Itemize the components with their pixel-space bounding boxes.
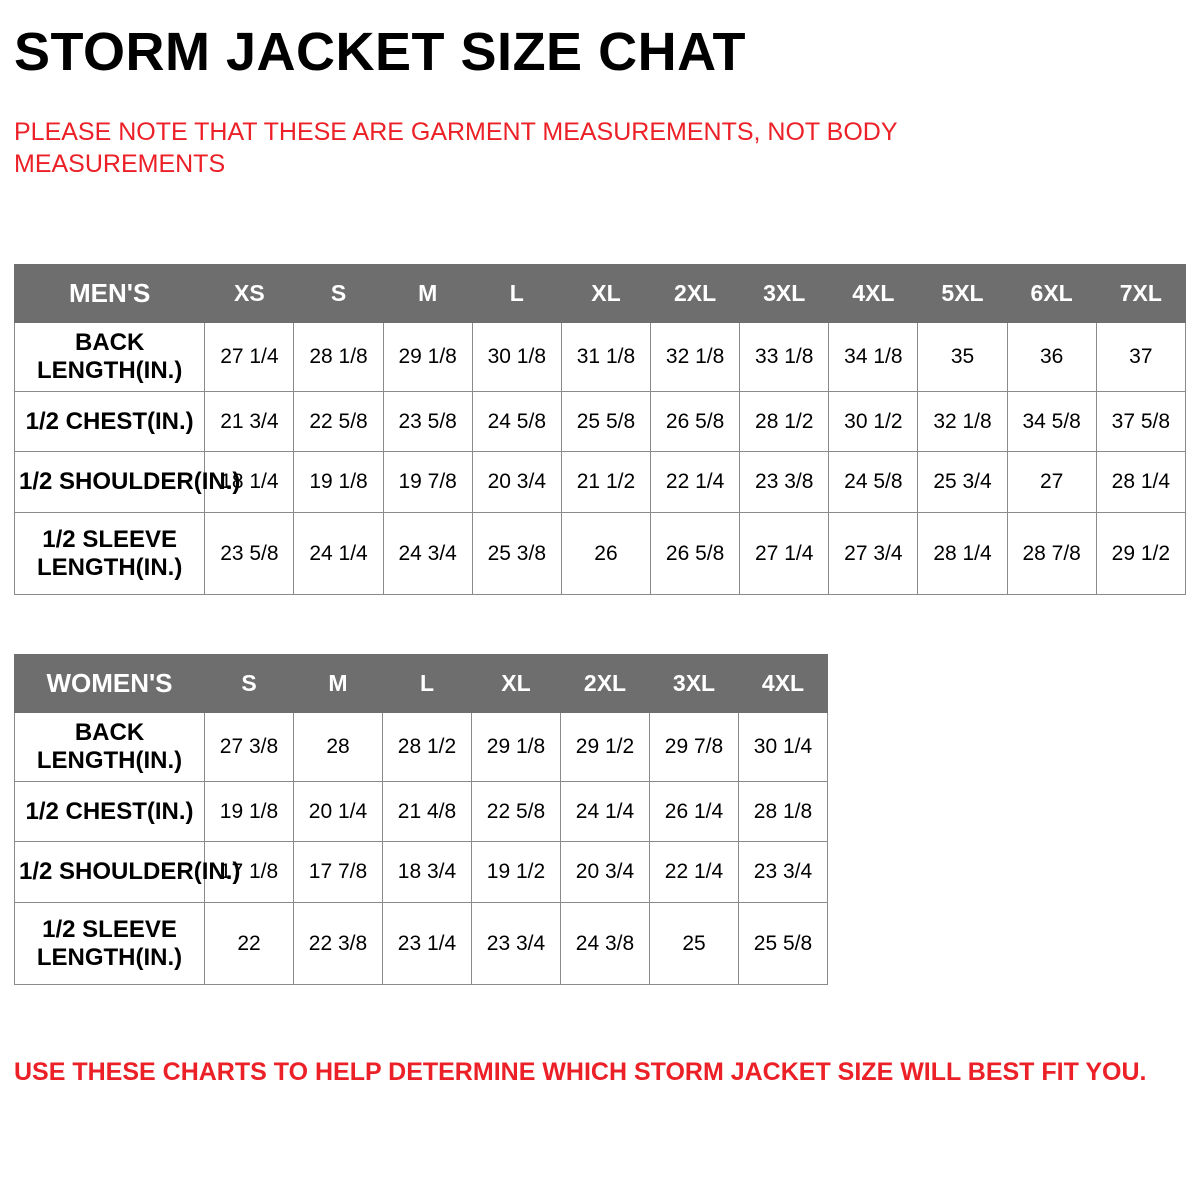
measurement-cell: 26 1/4	[650, 782, 739, 842]
measurement-cell: 19 1/8	[294, 452, 383, 513]
measurement-cell: 24 5/8	[472, 392, 561, 452]
measurement-cell: 27 3/4	[829, 513, 918, 595]
measurement-cell: 22 3/8	[294, 903, 383, 985]
measurement-cell: 30 1/2	[829, 392, 918, 452]
measurement-cell: 17 7/8	[294, 842, 383, 903]
womens-table-header: WOMEN'S SMLXL2XL3XL4XL	[15, 655, 828, 713]
measurement-cell: 32 1/8	[918, 392, 1007, 452]
measurement-row-label-line1: 1/2 SHOULDER(IN.)	[19, 468, 200, 496]
measurement-cell: 30 1/4	[739, 713, 828, 782]
size-column-header: 3XL	[650, 655, 739, 713]
measurement-cell: 29 1/8	[472, 713, 561, 782]
table-row: 1/2 SLEEVELENGTH(IN.)23 5/824 1/424 3/42…	[15, 513, 1186, 595]
measurement-cell: 24 5/8	[829, 452, 918, 513]
measurement-cell: 28 1/4	[1096, 452, 1185, 513]
measurement-cell: 22 1/4	[651, 452, 740, 513]
measurement-cell: 28 7/8	[1007, 513, 1096, 595]
size-column-header: XS	[205, 265, 294, 323]
measurement-row-label-line2: LENGTH(IN.)	[19, 747, 200, 775]
mens-size-table: MEN'S XSSMLXL2XL3XL4XL5XL6XL7XL BACKLENG…	[14, 264, 1186, 595]
measurement-cell: 22	[205, 903, 294, 985]
measurement-row-label-line1: BACK	[19, 719, 200, 747]
measurement-cell: 34 5/8	[1007, 392, 1096, 452]
measurement-cell: 37	[1096, 323, 1185, 392]
measurement-cell: 35	[918, 323, 1007, 392]
size-column-header: 3XL	[740, 265, 829, 323]
measurement-cell: 37 5/8	[1096, 392, 1185, 452]
measurement-cell: 28 1/2	[383, 713, 472, 782]
measurement-row-label: 1/2 CHEST(IN.)	[15, 782, 205, 842]
measurement-cell: 19 7/8	[383, 452, 472, 513]
measurement-cell: 26	[561, 513, 650, 595]
measurement-cell: 28 1/4	[918, 513, 1007, 595]
size-column-header: S	[294, 265, 383, 323]
measurement-cell: 27	[1007, 452, 1096, 513]
measurement-cell: 23 1/4	[383, 903, 472, 985]
measurement-cell: 24 3/4	[383, 513, 472, 595]
measurement-cell: 28 1/2	[740, 392, 829, 452]
measurement-cell: 22 1/4	[650, 842, 739, 903]
womens-corner-label: WOMEN'S	[15, 655, 205, 713]
measurement-row-label-line1: 1/2 SLEEVE	[19, 916, 200, 944]
size-column-header: 6XL	[1007, 265, 1096, 323]
size-column-header: XL	[561, 265, 650, 323]
measurement-row-label-line1: 1/2 SHOULDER(IN.)	[19, 858, 200, 886]
measurement-cell: 24 1/4	[561, 782, 650, 842]
measurement-cell: 27 3/8	[205, 713, 294, 782]
size-column-header: S	[205, 655, 294, 713]
measurement-cell: 20 3/4	[472, 452, 561, 513]
mens-corner-label: MEN'S	[15, 265, 205, 323]
measurement-cell: 25 5/8	[739, 903, 828, 985]
table-row: 1/2 SHOULDER(IN.)17 1/817 7/818 3/419 1/…	[15, 842, 828, 903]
measurement-row-label: 1/2 CHEST(IN.)	[15, 392, 205, 452]
measurement-row-label: 1/2 SLEEVELENGTH(IN.)	[15, 903, 205, 985]
measurement-cell: 20 1/4	[294, 782, 383, 842]
measurement-cell: 19 1/8	[205, 782, 294, 842]
measurement-row-label-line1: 1/2 CHEST(IN.)	[19, 408, 200, 436]
measurement-cell: 21 1/2	[561, 452, 650, 513]
measurement-cell: 21 3/4	[205, 392, 294, 452]
measurement-cell: 21 4/8	[383, 782, 472, 842]
measurement-cell: 27 1/4	[205, 323, 294, 392]
size-column-header: M	[383, 265, 472, 323]
measurement-cell: 27 1/4	[740, 513, 829, 595]
size-column-header: L	[383, 655, 472, 713]
measurement-cell: 23 3/4	[472, 903, 561, 985]
measurement-cell: 24 3/8	[561, 903, 650, 985]
measurement-cell: 33 1/8	[740, 323, 829, 392]
womens-table-body: BACKLENGTH(IN.)27 3/82828 1/229 1/829 1/…	[15, 713, 828, 985]
mens-header-row: MEN'S XSSMLXL2XL3XL4XL5XL6XL7XL	[15, 265, 1186, 323]
measurement-cell: 19 1/2	[472, 842, 561, 903]
measurement-cell: 29 7/8	[650, 713, 739, 782]
measurement-cell: 29 1/2	[561, 713, 650, 782]
measurement-cell: 32 1/8	[651, 323, 740, 392]
table-row: 1/2 CHEST(IN.)21 3/422 5/823 5/824 5/825…	[15, 392, 1186, 452]
page-title: STORM JACKET SIZE CHAT	[14, 22, 746, 82]
measurement-row-label-line2: LENGTH(IN.)	[19, 944, 200, 972]
table-row: BACKLENGTH(IN.)27 3/82828 1/229 1/829 1/…	[15, 713, 828, 782]
measurement-cell: 31 1/8	[561, 323, 650, 392]
womens-size-table: WOMEN'S SMLXL2XL3XL4XL BACKLENGTH(IN.)27…	[14, 654, 828, 985]
size-column-header: L	[472, 265, 561, 323]
measurement-cell: 36	[1007, 323, 1096, 392]
measurement-cell: 23 3/4	[739, 842, 828, 903]
measurement-cell: 34 1/8	[829, 323, 918, 392]
table-row: 1/2 SLEEVELENGTH(IN.)2222 3/823 1/423 3/…	[15, 903, 828, 985]
size-column-header: M	[294, 655, 383, 713]
measurement-cell: 28 1/8	[739, 782, 828, 842]
measurement-cell: 25 3/8	[472, 513, 561, 595]
size-help-note: USE THESE CHARTS TO HELP DETERMINE WHICH…	[14, 1057, 1184, 1087]
measurement-row-label: BACKLENGTH(IN.)	[15, 713, 205, 782]
measurement-cell: 26 5/8	[651, 392, 740, 452]
measurement-cell: 28 1/8	[294, 323, 383, 392]
measurement-row-label-line2: LENGTH(IN.)	[19, 554, 200, 582]
size-column-header: 4XL	[739, 655, 828, 713]
measurement-cell: 25 3/4	[918, 452, 1007, 513]
measurement-cell: 28	[294, 713, 383, 782]
measurement-cell: 23 5/8	[205, 513, 294, 595]
measurement-cell: 22 5/8	[294, 392, 383, 452]
size-column-header: 5XL	[918, 265, 1007, 323]
size-column-header: 7XL	[1096, 265, 1185, 323]
measurement-cell: 29 1/2	[1096, 513, 1185, 595]
measurement-row-label: 1/2 SHOULDER(IN.)	[15, 452, 205, 513]
womens-header-row: WOMEN'S SMLXL2XL3XL4XL	[15, 655, 828, 713]
measurement-cell: 24 1/4	[294, 513, 383, 595]
measurement-cell: 23 5/8	[383, 392, 472, 452]
garment-measurement-note: PLEASE NOTE THAT THESE ARE GARMENT MEASU…	[14, 116, 1014, 180]
measurement-cell: 23 3/8	[740, 452, 829, 513]
measurement-cell: 25 5/8	[561, 392, 650, 452]
measurement-row-label: BACKLENGTH(IN.)	[15, 323, 205, 392]
measurement-row-label-line1: 1/2 SLEEVE	[19, 526, 200, 554]
table-row: BACKLENGTH(IN.)27 1/428 1/829 1/830 1/83…	[15, 323, 1186, 392]
measurement-cell: 26 5/8	[651, 513, 740, 595]
measurement-row-label-line1: BACK	[19, 329, 200, 357]
mens-table-header: MEN'S XSSMLXL2XL3XL4XL5XL6XL7XL	[15, 265, 1186, 323]
mens-table-body: BACKLENGTH(IN.)27 1/428 1/829 1/830 1/83…	[15, 323, 1186, 595]
measurement-row-label-line2: LENGTH(IN.)	[19, 357, 200, 385]
measurement-cell: 25	[650, 903, 739, 985]
measurement-row-label: 1/2 SHOULDER(IN.)	[15, 842, 205, 903]
size-column-header: 4XL	[829, 265, 918, 323]
measurement-row-label: 1/2 SLEEVELENGTH(IN.)	[15, 513, 205, 595]
measurement-row-label-line1: 1/2 CHEST(IN.)	[19, 798, 200, 826]
measurement-cell: 22 5/8	[472, 782, 561, 842]
measurement-cell: 18 3/4	[383, 842, 472, 903]
size-column-header: 2XL	[651, 265, 740, 323]
measurement-cell: 20 3/4	[561, 842, 650, 903]
size-column-header: 2XL	[561, 655, 650, 713]
measurement-cell: 30 1/8	[472, 323, 561, 392]
measurement-cell: 29 1/8	[383, 323, 472, 392]
size-column-header: XL	[472, 655, 561, 713]
table-row: 1/2 SHOULDER(IN.)18 1/419 1/819 7/820 3/…	[15, 452, 1186, 513]
table-row: 1/2 CHEST(IN.)19 1/820 1/421 4/822 5/824…	[15, 782, 828, 842]
